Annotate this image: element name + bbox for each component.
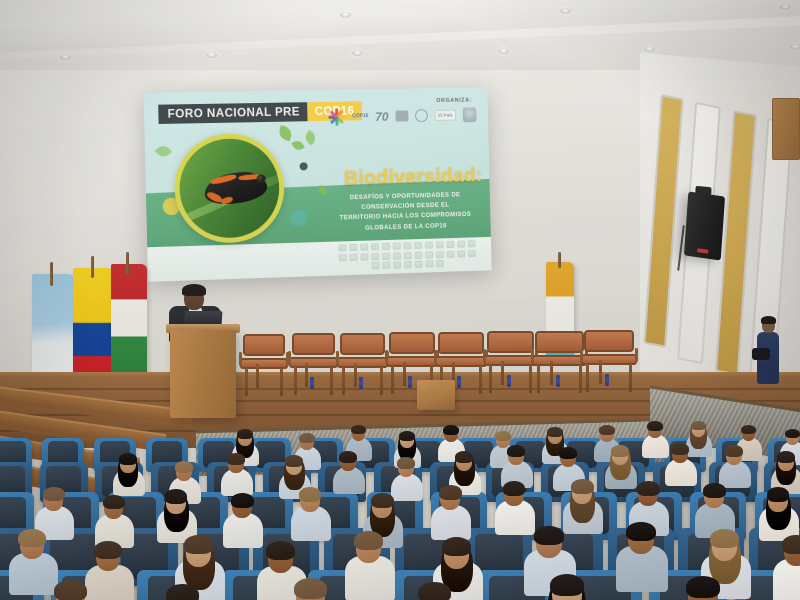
audience-hair-cap [611, 445, 630, 457]
audience-hair-cap [686, 576, 720, 598]
audience-hair-cap [266, 541, 295, 560]
chair-leg [403, 362, 406, 386]
chair-back [535, 331, 584, 353]
chair-leg [380, 367, 383, 395]
audience-shoulders [9, 553, 57, 596]
side-door[interactable] [772, 98, 800, 160]
flag-colombia [73, 268, 113, 386]
audience-hair-cap [691, 421, 706, 431]
chair-leg [550, 361, 553, 385]
audience-hair-cap [559, 447, 578, 459]
downlight-icon [340, 12, 351, 18]
audience-member [688, 574, 759, 600]
chair-arm [434, 350, 437, 364]
sdg-mini-icon [393, 243, 401, 250]
water-bottle [408, 376, 412, 388]
chair-leg [537, 365, 540, 393]
sdg-mini-icon [371, 243, 379, 250]
chair-back [389, 332, 434, 354]
downlight-icon [560, 8, 571, 14]
chair-leg [579, 365, 582, 393]
audience-hair-cap [399, 431, 415, 441]
slide-subtitle: DESAFÍOS Y OPORTUNIDADES DE CONSERVACIÓN… [330, 190, 480, 235]
chair-leg [245, 368, 248, 396]
sdg-mini-icon [457, 241, 465, 248]
chair-arm [580, 348, 583, 362]
audience-hair-cap [227, 453, 245, 465]
sdg-mini-icon [393, 252, 401, 259]
dark-dot-decoration [300, 162, 308, 170]
sdg-mini-icon [350, 253, 358, 260]
slide-heading: Biodiversidad: [343, 164, 482, 190]
chair-leg [280, 368, 283, 396]
audience-hair-cap [626, 522, 656, 541]
audience-member [168, 582, 237, 600]
audience-hair-cap [43, 487, 65, 501]
chair-leg [256, 364, 259, 388]
sdg-mini-icon [339, 254, 347, 261]
auditorium-scene: FORO NACIONAL PRE COP16 ORGANIZA: COP16 … [0, 0, 800, 600]
audience-hair-cap [237, 429, 253, 439]
audience-hair-cap [285, 455, 304, 467]
minambiente-logo-icon [415, 109, 428, 122]
leaf-decoration [303, 130, 318, 145]
audience-hair-cap [599, 425, 615, 435]
sdg-mini-icon [349, 244, 357, 251]
audience-hair-cap [571, 479, 594, 494]
chair-arm [635, 348, 638, 362]
chair-leg [586, 364, 589, 392]
audience-hair-cap [231, 493, 254, 508]
audience-hair-cap [455, 451, 474, 463]
audience-hair-cap [439, 485, 462, 500]
audience-member [784, 534, 800, 600]
audience-hair-cap [647, 421, 663, 431]
chair-leg [529, 365, 532, 393]
chair-leg [629, 364, 632, 392]
audience-member [300, 486, 348, 547]
sdg-mini-icon [382, 252, 390, 259]
chair-back [292, 333, 335, 355]
sdg-mini-icon [404, 252, 412, 259]
sdg-mini-icon [382, 262, 390, 269]
jbl-logo-icon [697, 248, 708, 254]
audience-member [420, 580, 490, 600]
sdg-mini-icon [414, 251, 422, 258]
chair-leg [305, 363, 308, 387]
audience-hair-cap [550, 574, 584, 596]
presentation-slide: FORO NACIONAL PRE COP16 ORGANIZA: COP16 … [143, 87, 491, 281]
audience-member [628, 520, 690, 600]
audience-hair-cap [442, 537, 471, 556]
audience-hair-cap [782, 535, 800, 553]
audience-member [56, 578, 125, 600]
audience-hair-cap [671, 443, 689, 455]
sdg-mini-icon [404, 261, 412, 268]
audience-hair-cap [777, 451, 795, 463]
audience-hair-cap [703, 483, 726, 498]
sdg-mini-icon [425, 260, 433, 267]
sdg-mini-icon [371, 253, 379, 260]
audience-hair-cap [495, 431, 511, 441]
audience-hair-cap [54, 580, 87, 600]
audience-hair-cap [637, 481, 660, 496]
audience-hair-cap [397, 457, 416, 469]
anniversary-70-logo-icon: 70 [375, 109, 388, 123]
audience-hair-cap [351, 425, 366, 435]
audience-hair-cap [299, 433, 315, 443]
flag-pole [126, 252, 129, 274]
audience-hair-cap [103, 495, 125, 509]
audience-member [296, 576, 366, 600]
chair-leg [294, 367, 297, 395]
audience-hair-cap [767, 487, 790, 502]
sdg-mini-icon [338, 244, 346, 251]
water-bottle [359, 377, 363, 389]
side-table [417, 380, 455, 410]
flag-red-white-green [111, 264, 147, 380]
sdg-mini-icon [468, 240, 476, 247]
audience-hair-cap [371, 493, 394, 508]
chair-arm [288, 351, 291, 365]
sdg-mini-icon [468, 250, 476, 257]
projection-screen: FORO NACIONAL PRE COP16 ORGANIZA: COP16 … [143, 87, 491, 281]
sdg-mini-icon [414, 242, 422, 249]
sdg-mini-icon [436, 241, 444, 248]
speaker-bracket [695, 186, 711, 195]
sdg-mini-icon [382, 243, 390, 250]
chair-back [584, 330, 634, 352]
audience-hair-cap [94, 541, 122, 559]
chair-arm [336, 351, 339, 365]
leaf-decoration [155, 143, 172, 160]
flag-pole [50, 262, 53, 286]
flag-pole [91, 256, 94, 278]
audience-hair-cap [710, 529, 739, 548]
chair-leg [479, 366, 482, 394]
water-bottle [507, 375, 511, 387]
sdg-mini-icon [425, 242, 433, 249]
sdg-mini-icon [360, 253, 368, 260]
water-bottle [605, 374, 609, 386]
cop16-starburst-logo-icon [328, 109, 345, 126]
chair-arm [385, 350, 388, 364]
frog-photo-circle: JULIO 25 DE 2024 9:30 A.M - 11:00 A.M [173, 133, 285, 245]
audience-hair-cap [18, 529, 46, 547]
chair-leg [342, 367, 345, 395]
downlight-icon [790, 44, 800, 50]
water-bottle [457, 376, 461, 388]
audience-hair-cap [418, 582, 451, 600]
audience-hair-cap [119, 453, 137, 465]
institution-logo-icon [395, 110, 408, 121]
sdg-mini-icon [372, 262, 380, 269]
audience-hair-cap [443, 425, 459, 435]
chair-back [487, 331, 535, 353]
podium [170, 330, 236, 418]
flag-pole [558, 252, 561, 268]
audience-hair-cap [507, 445, 525, 457]
standing-cameraman-hair [761, 316, 776, 324]
audience-hair-cap [503, 481, 526, 496]
sdg-mini-icon [393, 261, 401, 268]
water-bottle [310, 377, 314, 389]
sdg-mini-icon [447, 250, 455, 257]
audience-hair-cap [339, 451, 357, 463]
audience-hair-cap [175, 461, 193, 473]
chair-leg [501, 361, 504, 385]
chair-arm [531, 349, 534, 363]
audience-hair-cap [165, 489, 188, 504]
audience-hair-cap [741, 425, 756, 435]
chair-arm [239, 352, 242, 366]
water-bottle [556, 375, 560, 387]
leaf-decoration [291, 139, 304, 152]
sdg-mini-icon [360, 244, 368, 251]
audience-member [552, 572, 623, 600]
cop16-wordmark-logo-icon: COP16 [352, 114, 368, 120]
audience-hair-cap [184, 535, 213, 554]
audience-hair-cap [354, 531, 383, 550]
audience-hair-cap [534, 526, 564, 545]
chair-leg [599, 360, 602, 384]
audience-hair-cap [294, 578, 327, 599]
wall-speaker [684, 191, 725, 260]
sdg-mini-icon [403, 242, 411, 249]
chair-back [340, 333, 384, 355]
chair-leg [330, 367, 333, 395]
government-crest-logo-icon [463, 107, 477, 122]
chair-leg [354, 363, 357, 387]
chair-arm [483, 349, 486, 363]
sdg-mini-icon [457, 250, 465, 257]
stage-chair[interactable] [243, 334, 285, 396]
stage-chair[interactable] [584, 330, 634, 392]
slide-header-dark-label: FORO NACIONAL PRE [158, 102, 307, 124]
audience-hair-cap [785, 429, 800, 439]
chair-back [243, 334, 285, 356]
audience-hair-cap [547, 427, 563, 437]
sdg-mini-icon [425, 251, 433, 258]
leaf-decoration [277, 125, 293, 141]
audience-hair-cap [725, 445, 743, 457]
sdg-mini-icon [436, 251, 444, 258]
chair-back [438, 332, 485, 354]
sdg-icon-grid [333, 240, 480, 270]
audience-hair-cap [299, 487, 322, 502]
organiza-label: ORGANIZA: [436, 97, 472, 104]
sdg-mini-icon [446, 241, 454, 248]
camera-icon [752, 348, 770, 360]
sdg-mini-icon [415, 261, 423, 268]
sponsor-logo-row: COP16 70 El País [328, 106, 477, 126]
chair-leg [489, 365, 492, 393]
chair-leg [391, 366, 394, 394]
audience-hair-cap [166, 584, 199, 600]
presenter-hair [182, 284, 206, 296]
el-pais-logo-icon: El País [434, 110, 456, 121]
sdg-mini-icon [436, 260, 444, 267]
